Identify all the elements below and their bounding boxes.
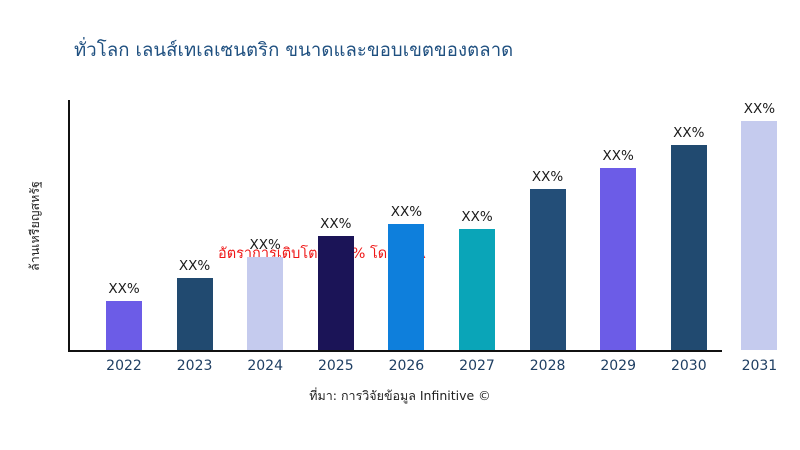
- bar-2027: [459, 229, 495, 350]
- bar-chart: ทั่วโลก เลนส์เทเลเซนตริก ขนาดและขอบเขตขอ…: [0, 0, 800, 450]
- bar-group-2028: XX%: [530, 163, 566, 350]
- bar-group-2025: XX%: [318, 210, 354, 350]
- x-tick-2022: 2022: [89, 358, 159, 374]
- bar-value-label-2031: XX%: [744, 101, 775, 117]
- bar-2029: [600, 168, 636, 350]
- x-tick-2026: 2026: [371, 358, 441, 374]
- y-axis-line: [68, 100, 70, 352]
- bar-group-2027: XX%: [459, 203, 495, 350]
- x-tick-2023: 2023: [160, 358, 230, 374]
- x-axis-line: [68, 350, 722, 352]
- bar-value-label-2028: XX%: [532, 169, 563, 185]
- bar-2030: [671, 145, 707, 350]
- bar-2026: [388, 224, 424, 350]
- bar-value-label-2025: XX%: [320, 216, 351, 232]
- page-title: ทั่วโลก เลนส์เทเลเซนตริก ขนาดและขอบเขตขอ…: [74, 36, 774, 65]
- bar-group-2029: XX%: [600, 142, 636, 350]
- bar-2023: [177, 278, 213, 350]
- x-tick-2030: 2030: [654, 358, 724, 374]
- y-axis-title-label: ล้านเหรียญสหรัฐ: [25, 181, 45, 271]
- x-tick-2028: 2028: [513, 358, 583, 374]
- bar-2024: [247, 257, 283, 350]
- bar-group-2024: XX%: [247, 231, 283, 350]
- x-tick-2025: 2025: [301, 358, 371, 374]
- bar-value-label-2029: XX%: [603, 148, 634, 164]
- plot-area: อัตราการเติบโตที XX% โดย IDR XX%XX%XX%XX…: [68, 100, 774, 352]
- y-axis-title: ล้านเหรียญสหรัฐ: [24, 100, 46, 352]
- x-tick-2031: 2031: [724, 358, 794, 374]
- x-tick-2024: 2024: [230, 358, 300, 374]
- bar-group-2022: XX%: [106, 275, 142, 350]
- bar-group-2026: XX%: [388, 198, 424, 350]
- bar-2031: [741, 121, 777, 350]
- bar-group-2030: XX%: [671, 119, 707, 350]
- source-note: ที่มา: การวิจัยข้อมูล Infinitive ©: [0, 386, 800, 406]
- bar-2028: [530, 189, 566, 350]
- bar-2022: [106, 301, 142, 350]
- bar-2025: [318, 236, 354, 350]
- bar-value-label-2024: XX%: [250, 237, 281, 253]
- bar-value-label-2022: XX%: [108, 281, 139, 297]
- bar-value-label-2027: XX%: [461, 209, 492, 225]
- x-tick-2029: 2029: [583, 358, 653, 374]
- bar-group-2031: XX%: [741, 95, 777, 350]
- bar-value-label-2023: XX%: [179, 258, 210, 274]
- x-tick-2027: 2027: [442, 358, 512, 374]
- bar-value-label-2026: XX%: [391, 204, 422, 220]
- bar-value-label-2030: XX%: [673, 125, 704, 141]
- bar-group-2023: XX%: [177, 252, 213, 350]
